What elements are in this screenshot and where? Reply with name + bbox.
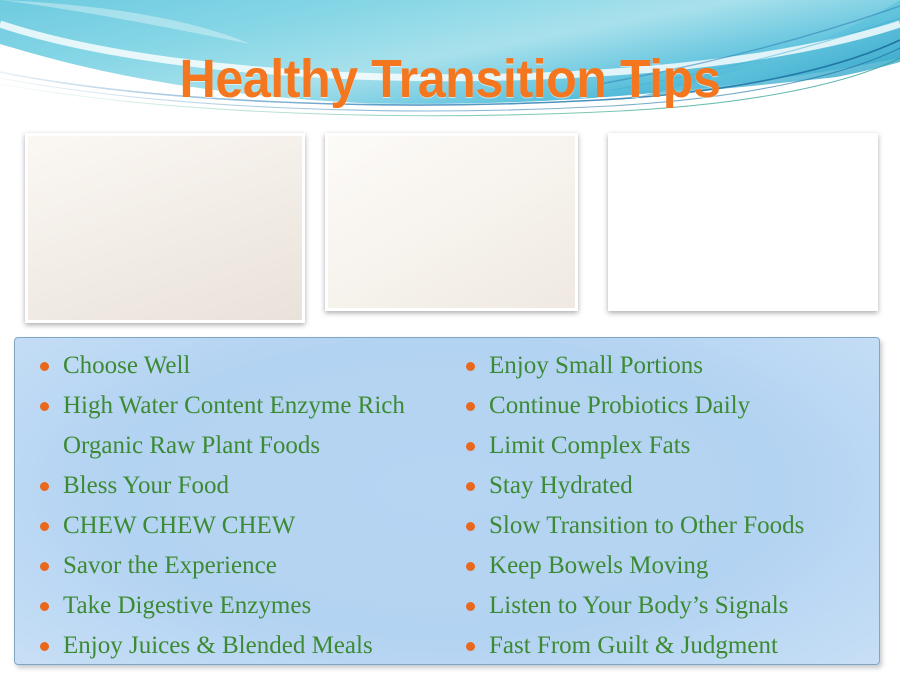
bullet-dot-icon: [40, 482, 49, 491]
bullet-dot-icon: [40, 522, 49, 531]
list-item: Enjoy Juices & Blended Meals: [31, 626, 444, 665]
bullet-dot-icon: [40, 402, 49, 411]
list-item-label: Stay Hydrated: [489, 472, 633, 499]
tips-panel: Choose Well High Water Content Enzyme Ri…: [14, 337, 880, 665]
bullet-dot-icon: [40, 602, 49, 611]
list-item: Continue Probiotics Daily: [457, 386, 879, 426]
list-item: Savor the Experience: [31, 546, 444, 586]
papaya-photo: [25, 133, 305, 323]
list-item: Choose Well: [31, 346, 444, 386]
list-item-label: Limit Complex Fats: [489, 432, 690, 459]
tips-right-column: Enjoy Small Portions Continue Probiotics…: [444, 338, 879, 664]
list-item: Limit Complex Fats: [457, 426, 879, 466]
bullet-dot-icon: [466, 602, 475, 611]
bullet-dot-icon: [466, 642, 475, 651]
bullet-dot-icon: [466, 402, 475, 411]
list-item-label: High Water Content Enzyme Rich Organic R…: [63, 392, 405, 459]
tips-list-right: Enjoy Small Portions Continue Probiotics…: [457, 346, 879, 665]
list-item: Bless Your Food: [31, 466, 444, 506]
bullet-dot-icon: [466, 562, 475, 571]
list-item-label: Choose Well: [63, 352, 190, 379]
page-title: Healthy Transition Tips: [32, 48, 869, 110]
bullet-dot-icon: [40, 362, 49, 371]
slide-root: Healthy Transition Tips: [0, 0, 900, 675]
tips-list-left: Choose Well High Water Content Enzyme Ri…: [31, 346, 444, 665]
list-item-label: Continue Probiotics Daily: [489, 392, 750, 419]
bullet-dot-icon: [466, 482, 475, 491]
juices-photo: [325, 133, 578, 311]
list-item: Take Digestive Enzymes: [31, 586, 444, 626]
list-item: Fast From Guilt & Judgment: [457, 626, 879, 665]
list-item-label: Slow Transition to Other Foods: [489, 512, 804, 539]
bullet-dot-icon: [40, 562, 49, 571]
list-item-label: Listen to Your Body’s Signals: [489, 592, 788, 619]
list-item: High Water Content Enzyme Rich Organic R…: [31, 386, 444, 466]
list-item-label: Fast From Guilt & Judgment: [489, 632, 778, 659]
belly-photo: [608, 133, 878, 311]
list-item-label: Savor the Experience: [63, 552, 277, 579]
bullet-dot-icon: [466, 442, 475, 451]
list-item-label: Bless Your Food: [63, 472, 229, 499]
list-item-label: Keep Bowels Moving: [489, 552, 708, 579]
list-item: Slow Transition to Other Foods: [457, 506, 879, 546]
list-item-label: Enjoy Juices & Blended Meals: [63, 632, 373, 659]
list-item-label: Take Digestive Enzymes: [63, 592, 311, 619]
list-item: Listen to Your Body’s Signals: [457, 586, 879, 626]
list-item: Keep Bowels Moving: [457, 546, 879, 586]
bullet-dot-icon: [40, 642, 49, 651]
list-item-label: CHEW CHEW CHEW: [63, 512, 295, 539]
list-item: Enjoy Small Portions: [457, 346, 879, 386]
list-item: Stay Hydrated: [457, 466, 879, 506]
list-item-label: Enjoy Small Portions: [489, 352, 703, 379]
bullet-dot-icon: [466, 522, 475, 531]
list-item: CHEW CHEW CHEW: [31, 506, 444, 546]
bullet-dot-icon: [466, 362, 475, 371]
tips-left-column: Choose Well High Water Content Enzyme Ri…: [15, 338, 444, 664]
